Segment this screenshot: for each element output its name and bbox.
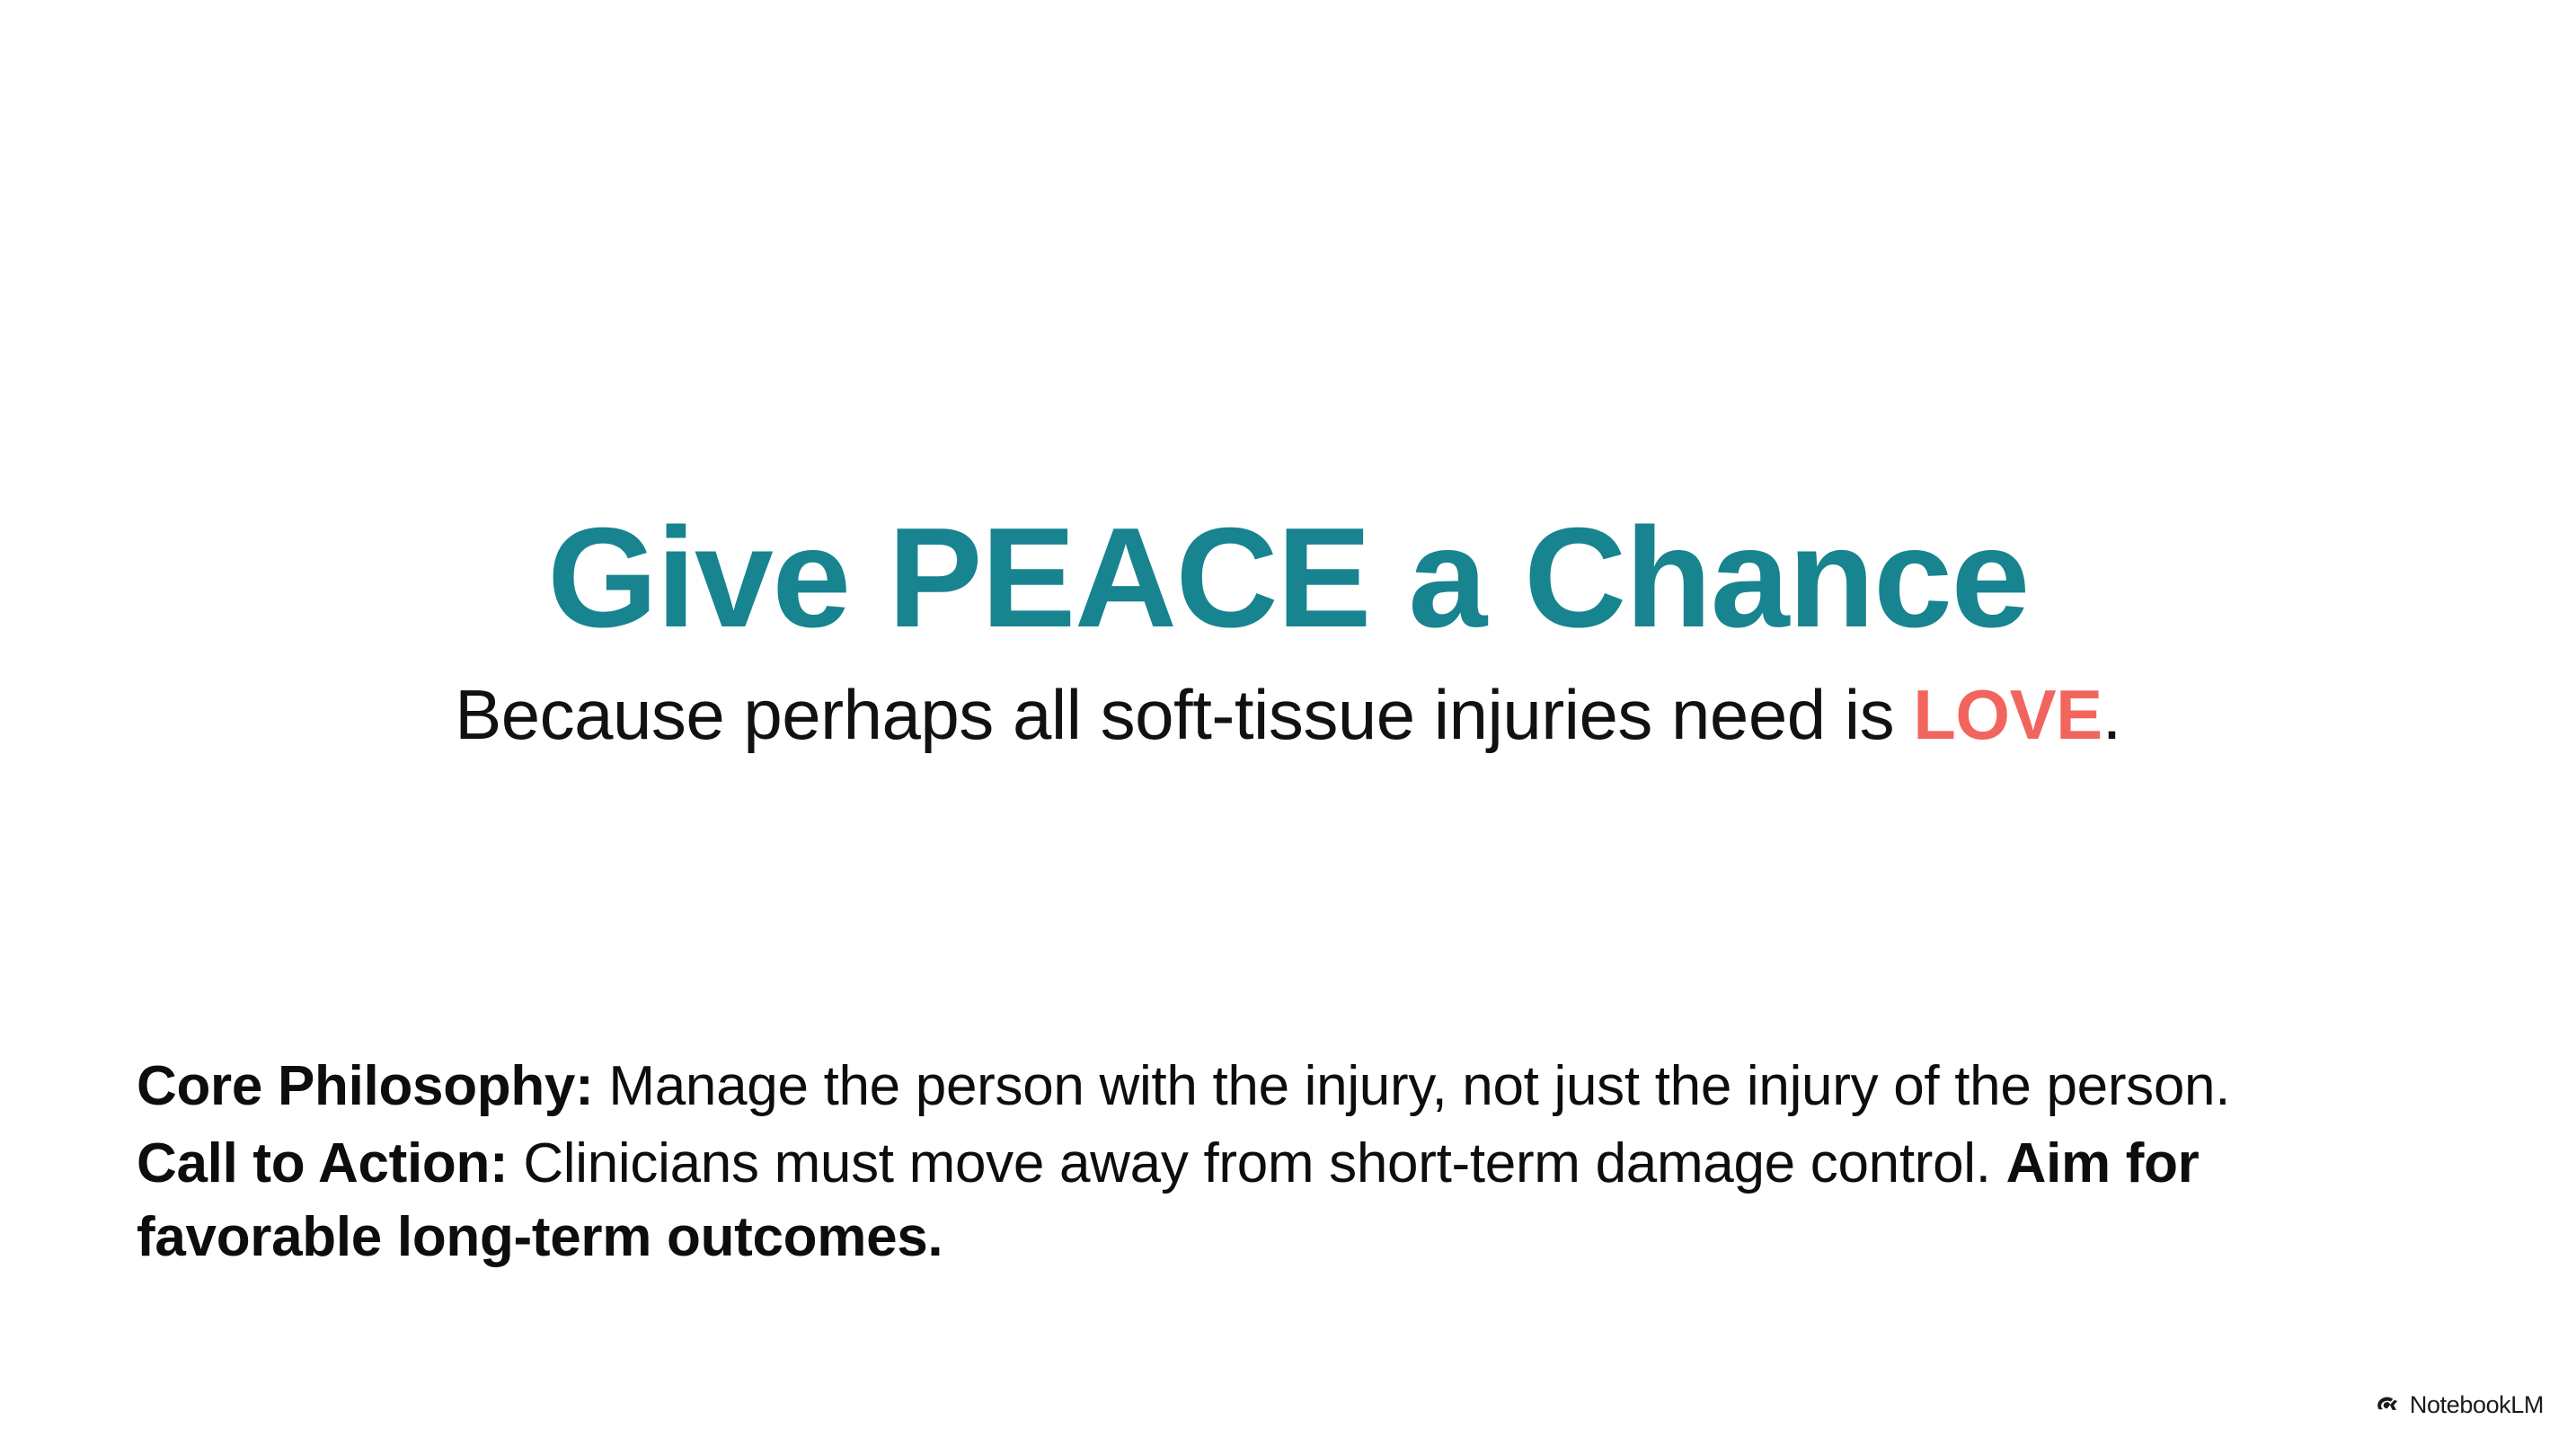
slide-subtitle: Because perhaps all soft-tissue injuries… [0,677,2576,754]
call-to-action-label: Call to Action: [137,1132,508,1194]
page-title: Give PEACE a Chance [0,503,2576,653]
slide-canvas: Give PEACE a Chance Because perhaps all … [0,0,2576,1438]
call-to-action-text: Clinicians must move away from short-ter… [508,1132,2005,1194]
body-line-core-philosophy: Core Philosophy: Manage the person with … [137,1050,2455,1123]
core-philosophy-label: Core Philosophy: [137,1055,593,1117]
notebooklm-logo-text: NotebookLM [2410,1393,2544,1417]
notebooklm-footer-logo: NotebookLM [2375,1391,2544,1418]
subtitle-prefix-text: Because perhaps all soft-tissue injuries… [455,675,1913,754]
body-line-call-to-action: Call to Action: Clinicians must move awa… [137,1127,2455,1274]
subtitle-highlight-love: LOVE [1913,675,2102,754]
subtitle-suffix-text: . [2102,675,2121,754]
body-text-block: Core Philosophy: Manage the person with … [137,1050,2455,1274]
notebooklm-spiral-icon [2375,1391,2402,1418]
title-block: Give PEACE a Chance Because perhaps all … [0,503,2576,754]
core-philosophy-text: Manage the person with the injury, not j… [593,1055,2230,1117]
